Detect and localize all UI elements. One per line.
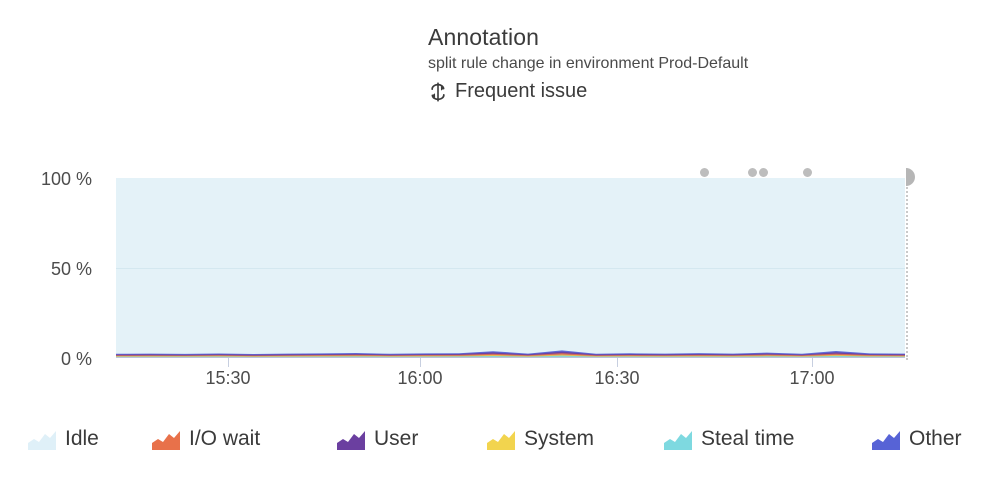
x-axis: 15:30 16:00 16:30 17:00 [0,358,1008,390]
x-tick [617,358,618,367]
chart-legend: Idle I/O wait User System Steal time Oth… [0,420,1008,468]
x-tick-label: 16:00 [397,368,442,388]
annotation-markers [116,168,916,180]
area-chart-icon [337,429,365,450]
cpu-usage-chart: 100 % 50 % 0 % 15:30 16: [0,150,1008,390]
annotation-title: Annotation [428,22,988,52]
y-axis: 100 % 50 % 0 % [0,150,92,390]
area-chart-icon [664,429,692,450]
area-chart-icon [487,429,515,450]
x-tick-label: 16:30 [594,368,639,388]
x-tick [420,358,421,367]
legend-item-system[interactable]: System [487,426,594,452]
legend-item-other[interactable]: Other [872,426,962,452]
annotation-dot[interactable] [803,168,812,177]
legend-item-user[interactable]: User [337,426,418,452]
y-tick-label: 50 % [0,260,92,278]
legend-label: Other [909,426,962,452]
y-tick-label: 100 % [0,170,92,188]
legend-label: User [374,426,418,452]
legend-item-idle[interactable]: Idle [28,426,99,452]
plot-area[interactable] [116,178,905,358]
repeat-icon [428,82,448,102]
area-chart-icon [872,429,900,450]
legend-label: I/O wait [189,426,260,452]
area-chart-icon [28,429,56,450]
legend-label: Steal time [701,426,794,452]
x-tick-label: 17:00 [789,368,834,388]
legend-label: System [524,426,594,452]
annotation-dot[interactable] [700,168,709,177]
annotation-dot[interactable] [748,168,757,177]
legend-label: Idle [65,426,99,452]
cursor-line [906,172,908,360]
annotation-subtitle: split rule change in environment Prod-De… [428,52,988,76]
x-tick [812,358,813,367]
frequent-issue-label: Frequent issue [455,77,587,105]
stacked-area-series [116,178,905,358]
legend-item-io-wait[interactable]: I/O wait [152,426,260,452]
annotation-dot[interactable] [759,168,768,177]
area-chart-icon [152,429,180,450]
legend-item-steal-time[interactable]: Steal time [664,426,794,452]
x-tick [228,358,229,367]
x-tick-label: 15:30 [205,368,250,388]
annotation-header: Annotation split rule change in environm… [428,22,988,105]
frequent-issue-badge: Frequent issue [428,77,988,105]
